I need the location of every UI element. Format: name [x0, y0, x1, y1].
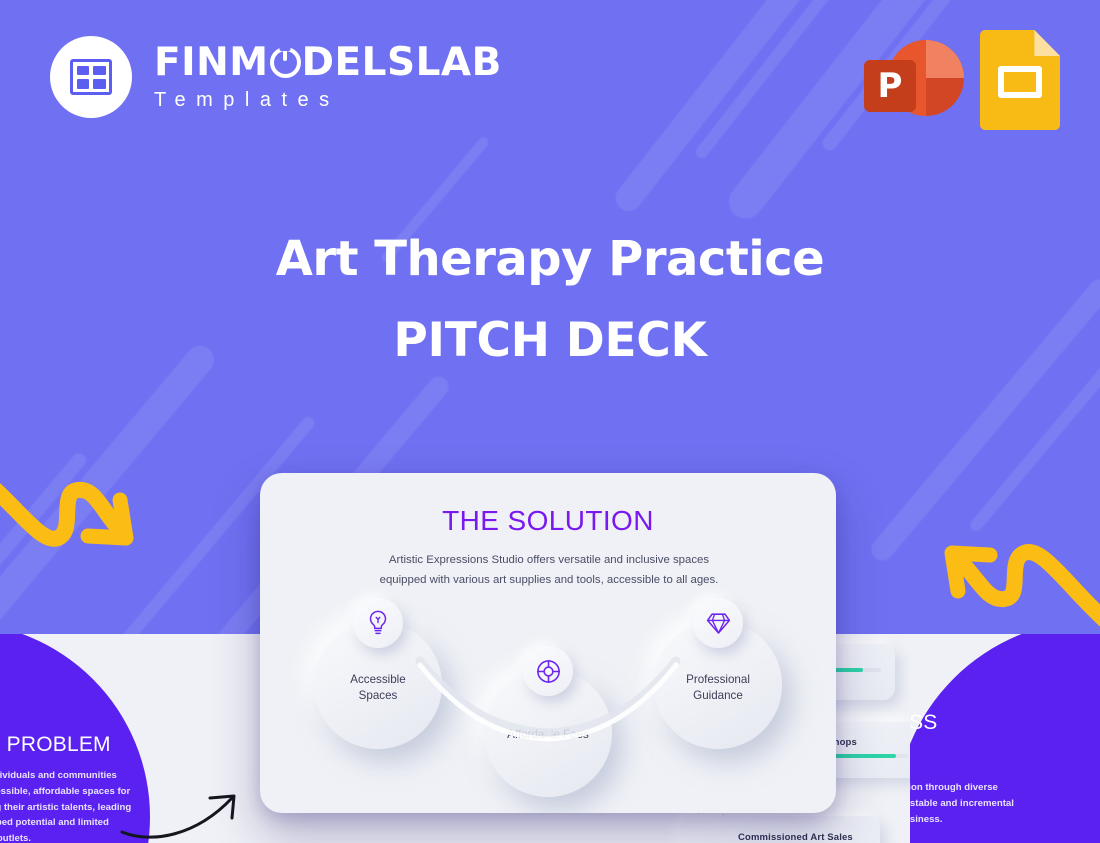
solution-heading: THE SOLUTION: [260, 505, 836, 537]
logo-main-text: FINMDELSLAB: [154, 43, 502, 82]
solution-node-2-label: Affordable Fees: [507, 727, 589, 743]
problem-body: Many individuals and communities lack ac…: [0, 768, 136, 843]
diamond-icon: [693, 598, 743, 648]
logo-wordmark: FINMDELSLAB Templates: [154, 43, 502, 112]
yellow-squiggle-arrow-left-icon: [0, 450, 180, 560]
slide-preview-stage: FINMDELSLAB Templates P Art Therapy Prac…: [0, 0, 1100, 843]
google-slides-icon: [980, 30, 1060, 130]
logo-sub-text: Templates: [154, 89, 502, 112]
slides-rectangle: [998, 66, 1042, 98]
solution-slide-card[interactable]: THE SOLUTION Artistic Expressions Studio…: [260, 473, 836, 813]
yellow-squiggle-arrow-right-icon: [920, 535, 1100, 645]
black-curved-arrow-icon: [120, 792, 250, 840]
powerpoint-letter-tile: P: [864, 60, 916, 112]
slides-fold-corner: [1034, 30, 1060, 56]
bar-label-commissioned: Commissioned Art Sales: [738, 832, 866, 843]
grid-squares-icon: [70, 59, 112, 95]
logo-mark: [50, 36, 132, 118]
deck-title-block: Art Therapy Practice PITCH DECK: [0, 234, 1100, 367]
power-o-icon: [270, 47, 301, 78]
lifebuoy-icon: [523, 646, 573, 696]
app-format-badges: P: [864, 30, 1060, 130]
logo-main-after: DELSLAB: [302, 43, 502, 82]
solution-node-1-label: Accessible Spaces: [350, 672, 405, 705]
powerpoint-letter: P: [878, 69, 903, 103]
bar-card-commissioned[interactable]: Commissioned Art Sales: [680, 816, 880, 843]
problem-heading: THE PROBLEM: [0, 733, 173, 757]
page-title: Art Therapy Practice: [0, 234, 1100, 286]
solution-node-3-label: Professional Guidance: [686, 672, 750, 705]
powerpoint-icon: P: [864, 30, 964, 130]
solution-description: Artistic Expressions Studio offers versa…: [378, 551, 720, 590]
logo-main-before: FINM: [154, 43, 269, 82]
brand-header: FINMDELSLAB Templates: [50, 36, 502, 118]
lightbulb-icon: [353, 598, 403, 648]
page-subtitle: PITCH DECK: [0, 316, 1100, 367]
